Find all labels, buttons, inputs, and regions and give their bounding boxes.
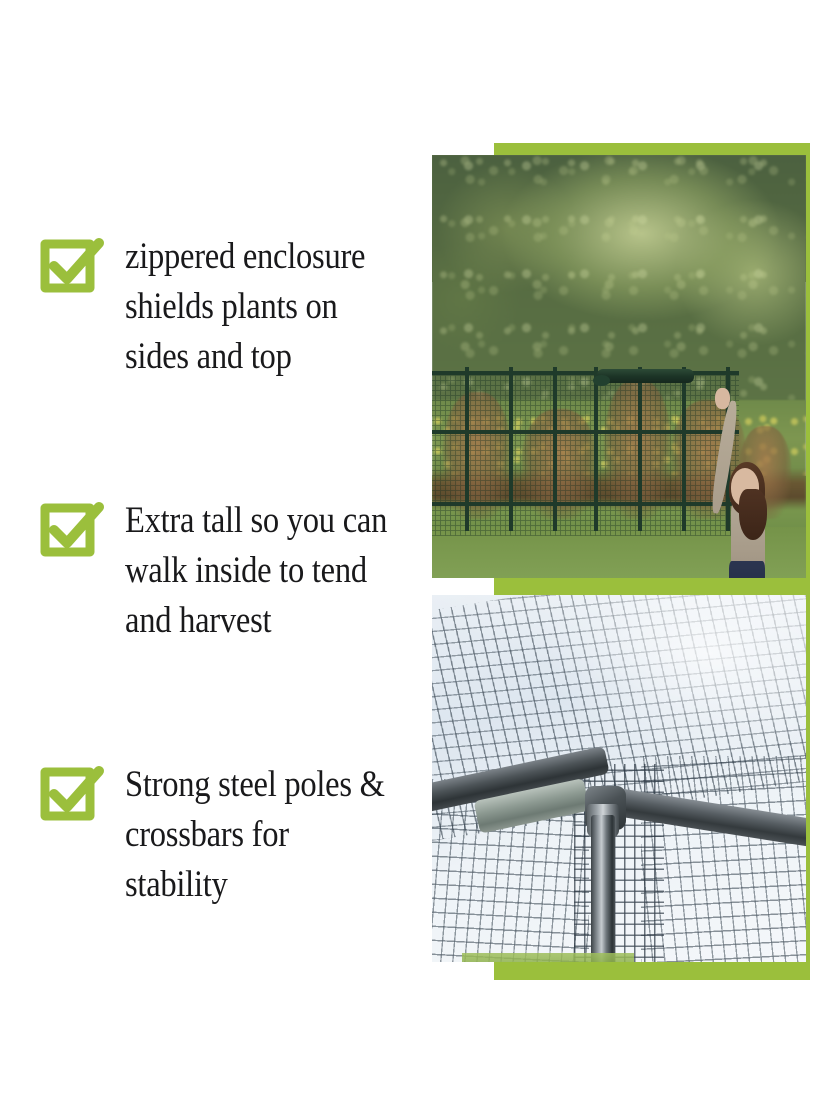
- feature-label: Extra tall so you can walk inside to ten…: [125, 496, 389, 646]
- feature-label: Strong steel poles & crossbars for stabi…: [125, 760, 389, 910]
- checked-checkbox-icon: [40, 236, 102, 298]
- photo-woman-garden-enclosure: [432, 155, 806, 578]
- feature-item: Strong steel poles & crossbars for stabi…: [40, 760, 425, 910]
- checked-checkbox-icon: [40, 500, 102, 562]
- feature-item: Extra tall so you can walk inside to ten…: [40, 496, 425, 646]
- feature-label: zippered enclosure shields plants on sid…: [125, 232, 389, 382]
- feature-item: zippered enclosure shields plants on sid…: [40, 232, 425, 382]
- enclosure-frame: [432, 367, 739, 579]
- page-root: zippered enclosure shields plants on sid…: [0, 0, 840, 1120]
- photo-pole-corner-detail: [432, 595, 806, 962]
- checked-checkbox-icon: [40, 764, 102, 826]
